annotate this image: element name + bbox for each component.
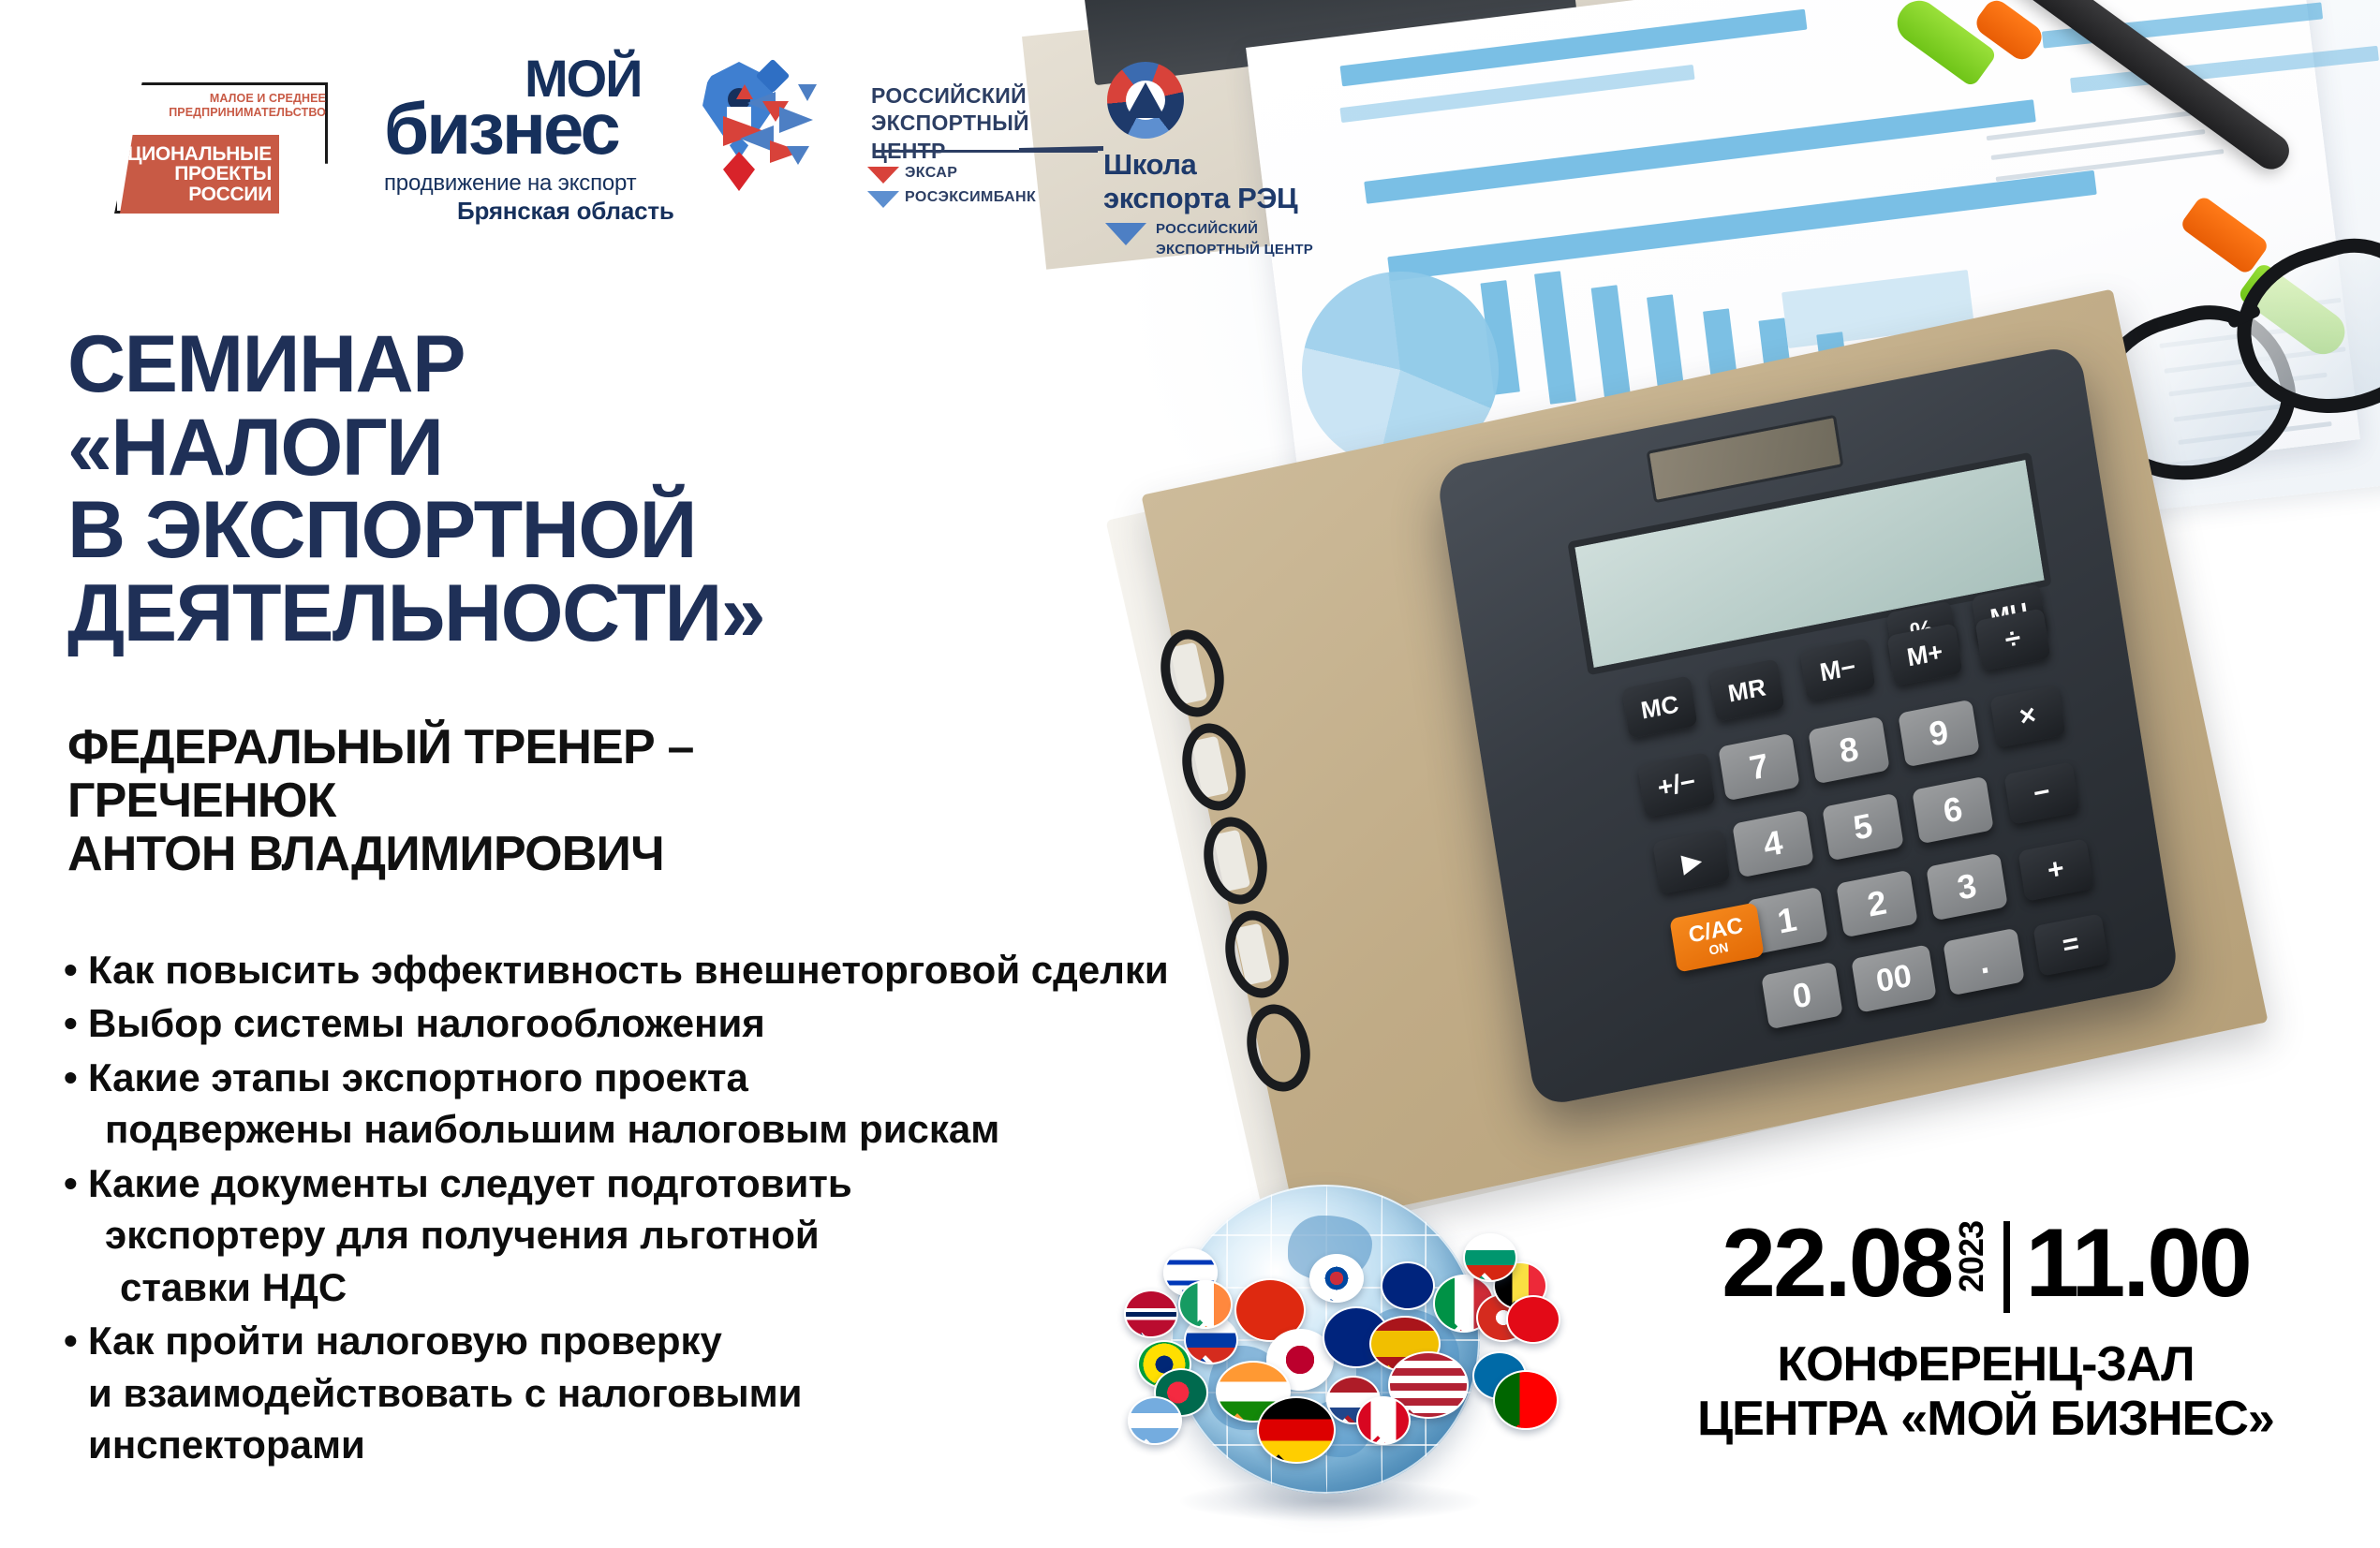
trainer-given-names: АНТОН ВЛАДИМИРОВИЧ — [67, 828, 694, 881]
title-line-1: СЕМИНАР — [67, 323, 764, 406]
calculator-key-6: 6 — [1912, 776, 1994, 845]
school-of-export-title-line-2: экспорта РЭЦ — [1103, 182, 1297, 215]
event-date-time-row: 22.08 2023 11.00 — [1630, 1217, 2342, 1313]
rec-triangle-mark-icon — [721, 79, 862, 169]
event-time: 11.00 — [2025, 1217, 2250, 1310]
eyeglasses-lens-left — [2073, 286, 2313, 503]
event-venue: КОНФЕРЕНЦ-ЗАЛ ЦЕНТРА «МОЙ БИЗНЕС» — [1630, 1337, 2342, 1446]
title-line-2: «НАЛОГИ — [67, 406, 764, 490]
school-of-export-title-line-1: Школа — [1103, 148, 1196, 182]
calculator-key-2: 2 — [1836, 870, 1918, 938]
calculator-key-m-plus: M+ — [1886, 623, 1962, 686]
np-caption-line-1: МАЛОЕ И СРЕДНЕЕ — [169, 92, 326, 106]
report-bar — [1647, 294, 1689, 427]
report-bar — [1875, 344, 1914, 450]
my-business-subtitle-export: продвижение на экспорт — [384, 170, 636, 197]
logo-national-projects: МАЛОЕ И СРЕДНЕЕ ПРЕДПРИНИМАТЕЛЬСТВО НАЦИ… — [114, 82, 328, 214]
calculator-key-sign: +/− — [1637, 752, 1715, 818]
calculator-key-1: 1 — [1746, 887, 1828, 955]
logo-national-projects-caption: МАЛОЕ И СРЕДНЕЕ ПРЕДПРИНИМАТЕЛЬСТВО — [169, 92, 326, 121]
report-text-line — [2168, 373, 2327, 397]
calculator-key-divide: ÷ — [1974, 608, 2050, 671]
list-item-line-1: Какие документы следует подготовить — [88, 1161, 852, 1205]
logo-russian-export-center: РОССИЙСКИЙ ЭКСПОРТНЫЙ ЦЕНТР ЭКСАР РОСЭКС… — [721, 73, 1105, 214]
rec-divider — [873, 150, 1098, 153]
calculator-key-7: 7 — [1718, 733, 1800, 802]
calculator-key-decimal: . — [1943, 928, 2025, 996]
calculator-key-mc: MC — [1621, 675, 1697, 738]
calculator-key-5: 5 — [1822, 793, 1904, 862]
rec-name-line-1: РОССИЙСКИЙ — [871, 82, 1105, 110]
school-of-export-sub-line-1: РОССИЙСКИЙ — [1156, 221, 1258, 237]
report-bar — [1703, 308, 1745, 441]
report-text-line — [2178, 421, 2331, 445]
notebook-page-edge — [1213, 830, 1250, 892]
flag-bubble-germany — [1257, 1396, 1336, 1464]
calculator-body — [1435, 344, 2180, 1107]
title-line-4: ДЕЯТЕЛЬНОСТИ» — [67, 572, 764, 656]
flag-bubble-south-korea — [1309, 1254, 1364, 1303]
my-business-word-biznes: бизнес — [384, 92, 618, 165]
report-text-line — [2154, 298, 2341, 325]
school-of-export-sub-line-2: ЭКСПОРТНЫЙ ЦЕНТР — [1156, 242, 1313, 258]
bullet-marker-icon: • — [64, 997, 88, 1049]
np-badge-line-2: ПРОЕКТЫ — [174, 164, 272, 184]
report-bar — [1591, 285, 1633, 413]
notebook-page-edge — [1170, 642, 1207, 704]
title-line-3: В ЭКСПОРТНОЙ — [67, 489, 764, 572]
calculator-key-mr: MR — [1708, 658, 1784, 721]
list-item: • Какие этапы экспортного проекта подвер… — [64, 1052, 1450, 1156]
calculator-key-minus: − — [2003, 761, 2079, 824]
flag-bubble-bulgaria — [1463, 1233, 1517, 1282]
partner-logo-row: МАЛОЕ И СРЕДНЕЕ ПРЕДПРИНИМАТЕЛЬСТВО НАЦИ… — [0, 0, 2380, 300]
flag-bubble-canada — [1356, 1396, 1411, 1445]
flag-bubble-norway — [1124, 1290, 1178, 1338]
bullet-marker-icon: • — [64, 1157, 88, 1313]
page-title: СЕМИНАР «НАЛОГИ В ЭКСПОРТНОЙ ДЕЯТЕЛЬНОСТ… — [67, 323, 764, 655]
list-item-line-1: Как пройти налоговую проверку — [88, 1319, 722, 1363]
list-item-line-1: Какие этапы экспортного проекта — [88, 1055, 748, 1099]
flag-bubble-argentina — [1128, 1396, 1182, 1445]
calculator-key-clear-sub: ON — [1707, 940, 1729, 957]
report-text-line — [2164, 346, 2345, 374]
flag-bubble-portugal — [1493, 1370, 1559, 1430]
trainer-role: ФЕДЕРАЛЬНЫЙ ТРЕНЕР – — [67, 721, 694, 774]
calculator-key-mu: MU — [1972, 583, 2047, 645]
rec-name: РОССИЙСКИЙ ЭКСПОРТНЫЙ ЦЕНТР — [871, 82, 1105, 165]
np-caption-line-2: ПРЕДПРИНИМАТЕЛЬСТВО — [169, 106, 326, 120]
logo-my-business: МОЙ бизнес продвижение на экспорт Брянск… — [384, 56, 777, 215]
report-bar — [1816, 332, 1857, 455]
calculator-key-right: ▶ — [1652, 829, 1730, 894]
seminar-poster: % MU M− M+ ÷ MC MR 7 8 9 × +/− 4 5 6 − ▶… — [0, 0, 2380, 1548]
calculator-key-clear: C/AC ON — [1669, 902, 1764, 972]
flag-bubble-turkey — [1506, 1295, 1560, 1344]
event-year: 2023 — [1955, 1221, 1988, 1292]
notebook-page-edge — [1191, 736, 1229, 798]
date-time-separator — [2003, 1221, 2010, 1313]
logo-national-projects-badge: НАЦИОНАЛЬНЫЕ ПРОЕКТЫ РОССИИ — [120, 135, 279, 214]
list-item-line-1: Как повысить эффективность внешнеторгово… — [88, 948, 1169, 992]
calculator-key-4: 4 — [1732, 810, 1814, 878]
calculator-key-clear-label: C/AC — [1687, 915, 1744, 948]
list-item-text: Выбор системы налогообложения — [88, 997, 1450, 1049]
bullet-marker-icon: • — [64, 944, 88, 995]
calculator-display — [1567, 452, 2051, 675]
rec-name-line-2: ЭКСПОРТНЫЙ ЦЕНТР — [871, 110, 1105, 165]
event-venue-line-2: ЦЕНТРА «МОЙ БИЗНЕС» — [1630, 1392, 2342, 1446]
my-business-subtitle-region: Брянская область — [457, 197, 674, 226]
calculator-key-9: 9 — [1898, 700, 1980, 768]
calculator-key-3: 3 — [1926, 853, 2008, 921]
list-item: • Как повысить эффективность внешнеторго… — [64, 944, 1450, 995]
calculator-key-multiply: × — [1989, 685, 2065, 747]
report-text-line — [2173, 395, 2350, 421]
calculator-key-equals: = — [2033, 913, 2108, 976]
bullet-marker-icon: • — [64, 1052, 88, 1156]
event-details-block: 22.08 2023 11.00 КОНФЕРЕНЦ-ЗАЛ ЦЕНТРА «М… — [1630, 1217, 2342, 1446]
school-of-export-arrow-icon — [1105, 223, 1146, 245]
trainer-surname: ГРЕЧЕНЮК — [67, 774, 694, 828]
notebook-spiral-ring — [1153, 624, 1232, 723]
event-date: 22.08 — [1722, 1217, 1951, 1310]
rec-arrow-icon-eksar — [867, 167, 899, 184]
calculator-solar-panel — [1647, 415, 1844, 504]
school-of-export-globe-inner-triangle — [1126, 82, 1165, 118]
rec-arrow-icon-roseximbank — [867, 191, 899, 208]
globe-with-flags-graphic — [1115, 1175, 1555, 1531]
calculator-key-percent: % — [1886, 601, 1959, 662]
calculator-key-plus: + — [2018, 838, 2093, 901]
list-item-line-1: Выбор системы налогообложения — [88, 1001, 765, 1045]
calculator-key-0: 0 — [1761, 962, 1843, 1030]
calculator-key-00: 00 — [1851, 944, 1937, 1012]
eyeglasses-bridge — [2226, 303, 2262, 329]
trainer-block: ФЕДЕРАЛЬНЫЙ ТРЕНЕР – ГРЕЧЕНЮК АНТОН ВЛАД… — [67, 721, 694, 882]
np-badge-line-3: РОССИИ — [188, 184, 272, 204]
flag-bubble-australia — [1381, 1261, 1435, 1310]
calculator-key-8: 8 — [1808, 716, 1890, 785]
rec-subsidiary-roseximbank: РОСЭКСИМБАНК — [905, 189, 1036, 206]
bullet-marker-icon: • — [64, 1315, 88, 1470]
notebook-spiral-ring — [1175, 717, 1253, 817]
list-item: • Выбор системы налогообложения — [64, 997, 1450, 1049]
report-text-line — [2159, 323, 2327, 348]
flag-bubble-ireland — [1178, 1280, 1233, 1329]
calculator-key-m-minus: M− — [1799, 638, 1875, 700]
list-item-text: Как повысить эффективность внешнеторгово… — [88, 944, 1450, 995]
notebook-spiral-ring — [1196, 811, 1275, 910]
rec-subsidiary-eksar: ЭКСАР — [905, 165, 957, 182]
logo-school-of-export: Школа экспорта РЭЦ РОССИЙСКИЙ ЭКСПОРТНЫЙ… — [1094, 62, 1366, 230]
event-venue-line-1: КОНФЕРЕНЦ-ЗАЛ — [1630, 1337, 2342, 1392]
report-bar — [1758, 317, 1800, 455]
list-item-text: Какие этапы экспортного проекта подверже… — [88, 1052, 1450, 1156]
list-item-line-2: подвержены наибольшим налоговым рискам — [88, 1103, 1450, 1155]
